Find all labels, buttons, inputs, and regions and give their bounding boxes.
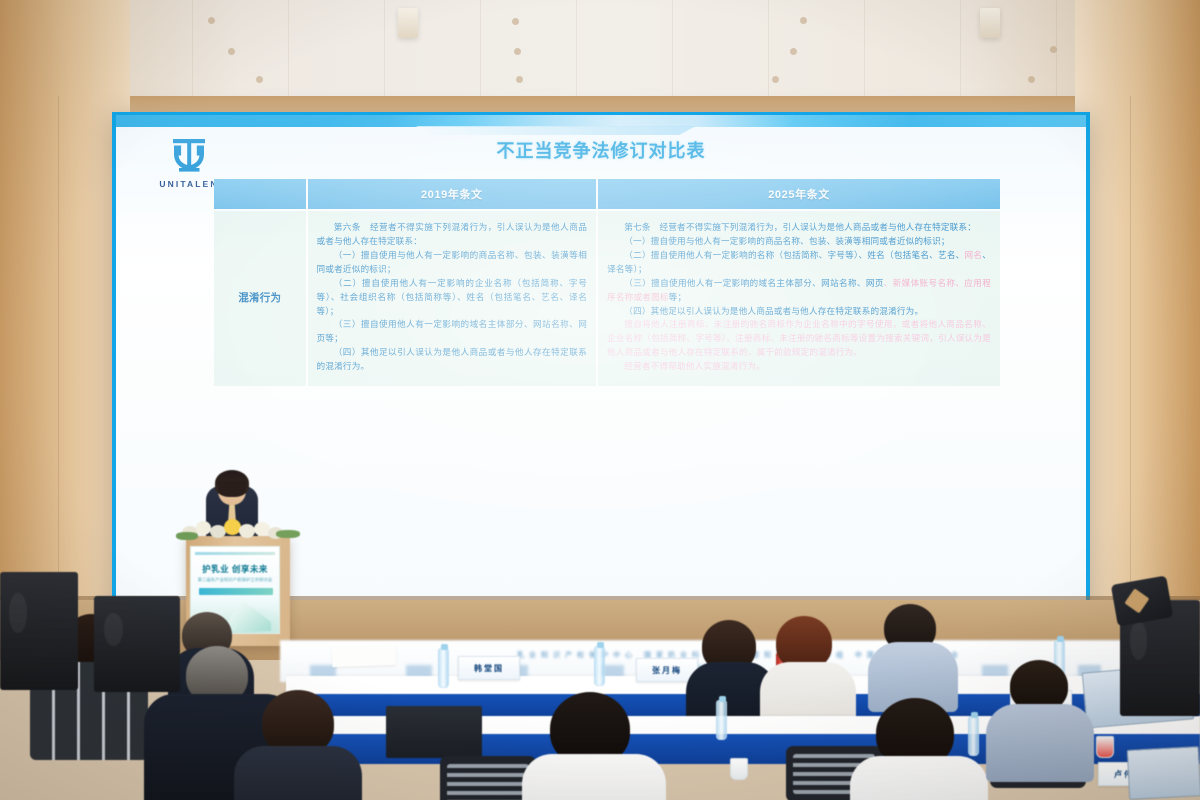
paper-cup bbox=[1096, 736, 1114, 758]
slide-title: 不正当竞争法修订对比表 bbox=[116, 137, 1086, 163]
laptop-screen bbox=[1127, 746, 1200, 800]
table-header-blank bbox=[214, 179, 306, 209]
slide-top-decoration-bar bbox=[116, 115, 1086, 127]
row-label-confusion: 混淆行为 bbox=[214, 211, 306, 386]
podium-banner-subtitle: 第二届乳产业知识产权保护工作研讨会 bbox=[191, 577, 279, 583]
ceiling-boxlight bbox=[980, 8, 1000, 38]
ceiling-downlight bbox=[516, 76, 523, 83]
water-bottle bbox=[438, 648, 449, 688]
ceiling-downlight bbox=[256, 76, 263, 83]
attendee-torso bbox=[850, 756, 988, 800]
clause-2019-4: （四）其他足以引人误认为是他人商品或者与他人存在特定联系的混淆行为。 bbox=[317, 346, 588, 374]
table-header-2019: 2019年条文 bbox=[308, 179, 597, 209]
wall-seam bbox=[58, 96, 59, 641]
clause-2025-2: （二）擅自使用他人有一定影响的名称（包括简称、字号等）、姓名（包括笔名、艺名、 bbox=[624, 250, 964, 260]
laptop bbox=[386, 706, 482, 758]
ceiling-boxlight bbox=[398, 8, 418, 38]
podium-banner-title: 护乳业 创享未来 bbox=[191, 563, 279, 575]
presenter-hair bbox=[215, 470, 249, 496]
podium-banner-strip bbox=[195, 552, 275, 555]
pa-speaker-left-lower bbox=[94, 596, 180, 692]
ceiling-downlight bbox=[514, 48, 521, 55]
clause-2025-0: 第七条 经营者不得实施下列混淆行为，引人误认为是他人商品或者与他人存在特定联系： bbox=[607, 221, 991, 235]
name-card-label: 韩堂国 bbox=[474, 663, 504, 674]
clause-2025-3-highlight: 网名 bbox=[965, 250, 983, 260]
attendee-torso bbox=[522, 754, 666, 800]
clause-2025-1: （一）擅自使用与他人有一定影响的商品名称、包装、装潢等相同或者近似的标识； bbox=[607, 235, 991, 249]
clause-2019-1: （一）擅自使用与他人有一定影响的商品名称、包装、装潢等相同或者近似的标识； bbox=[317, 249, 588, 277]
clause-2019-0: 第六条 经营者不得实施下列混淆行为，引人误认为是他人商品或者与他人存在特定联系： bbox=[317, 221, 588, 249]
clause-2025-9-highlight: 擅自将他人注册商标、未注册的驰名商标作为企业名称中的字号使用，或者将他人商品名称… bbox=[607, 318, 991, 360]
ceiling-downlight bbox=[512, 18, 519, 25]
paper-cup bbox=[730, 758, 748, 780]
slide-top-decoration-accent bbox=[416, 126, 696, 135]
clause-2025-7: 等； bbox=[669, 292, 687, 302]
water-bottle bbox=[716, 700, 727, 740]
ceiling-downlight bbox=[772, 76, 779, 83]
conference-hall-scene: UNITALEN 不正当竞争法修订对比表 2019年条文 2025年条文 混淆行… bbox=[0, 0, 1200, 800]
attendee-torso bbox=[986, 704, 1094, 782]
ceiling-downlight bbox=[790, 48, 797, 55]
comparison-table: 2019年条文 2025年条文 混淆行为 第六条 经营者不得实施下列混淆行为，引… bbox=[212, 177, 1002, 388]
flower-arrangement bbox=[176, 516, 300, 546]
ceiling-panel-lines bbox=[0, 0, 1200, 100]
ceiling-downlight bbox=[1050, 46, 1057, 53]
clause-2025-8: （四）其他足以引人误认为是他人商品或者与他人存在特定联系的混淆行为。 bbox=[607, 305, 991, 319]
table-row: 混淆行为 第六条 经营者不得实施下列混淆行为，引人误认为是他人商品或者与他人存在… bbox=[214, 211, 1000, 386]
ceiling-downlight bbox=[208, 17, 215, 24]
left-wall bbox=[0, 0, 130, 640]
ceiling-downlight bbox=[1028, 76, 1035, 83]
table-header-2025: 2025年条文 bbox=[598, 179, 1000, 209]
clause-2025-5: （三）擅自使用他人有一定影响的域名主体部分、网站名称、网页 bbox=[624, 278, 883, 288]
wall-seam bbox=[1130, 96, 1131, 641]
table-header-row: 2019年条文 2025年条文 bbox=[214, 179, 1000, 209]
water-bottle bbox=[968, 716, 979, 756]
cell-2019-text: 第六条 经营者不得实施下列混淆行为，引人误认为是他人商品或者与他人存在特定联系：… bbox=[308, 211, 597, 386]
paper-document bbox=[332, 645, 397, 667]
name-card-label: 张月梅 bbox=[652, 665, 682, 676]
ceiling-downlight bbox=[800, 17, 807, 24]
name-card: 韩堂国 bbox=[458, 656, 520, 680]
cell-2025-text: 第七条 经营者不得实施下列混淆行为，引人误认为是他人商品或者与他人存在特定联系：… bbox=[598, 211, 1000, 386]
right-wall bbox=[1075, 0, 1200, 640]
water-bottle bbox=[594, 646, 605, 686]
attendee-torso bbox=[234, 746, 362, 800]
clause-2019-2: （二）擅自使用他人有一定影响的企业名称（包括简称、字号等）、社会组织名称（包括简… bbox=[317, 277, 588, 319]
clause-2025-10-highlight: 经营者不得帮助他人实施混淆行为。 bbox=[607, 360, 991, 374]
clause-2019-3: （三）擅自使用他人有一定影响的域名主体部分、网站名称、网页等； bbox=[317, 318, 588, 346]
ceiling-downlight bbox=[228, 48, 235, 55]
pa-speaker-left bbox=[0, 572, 78, 690]
ceiling bbox=[0, 0, 1200, 100]
podium-banner-date-bar bbox=[199, 588, 273, 595]
